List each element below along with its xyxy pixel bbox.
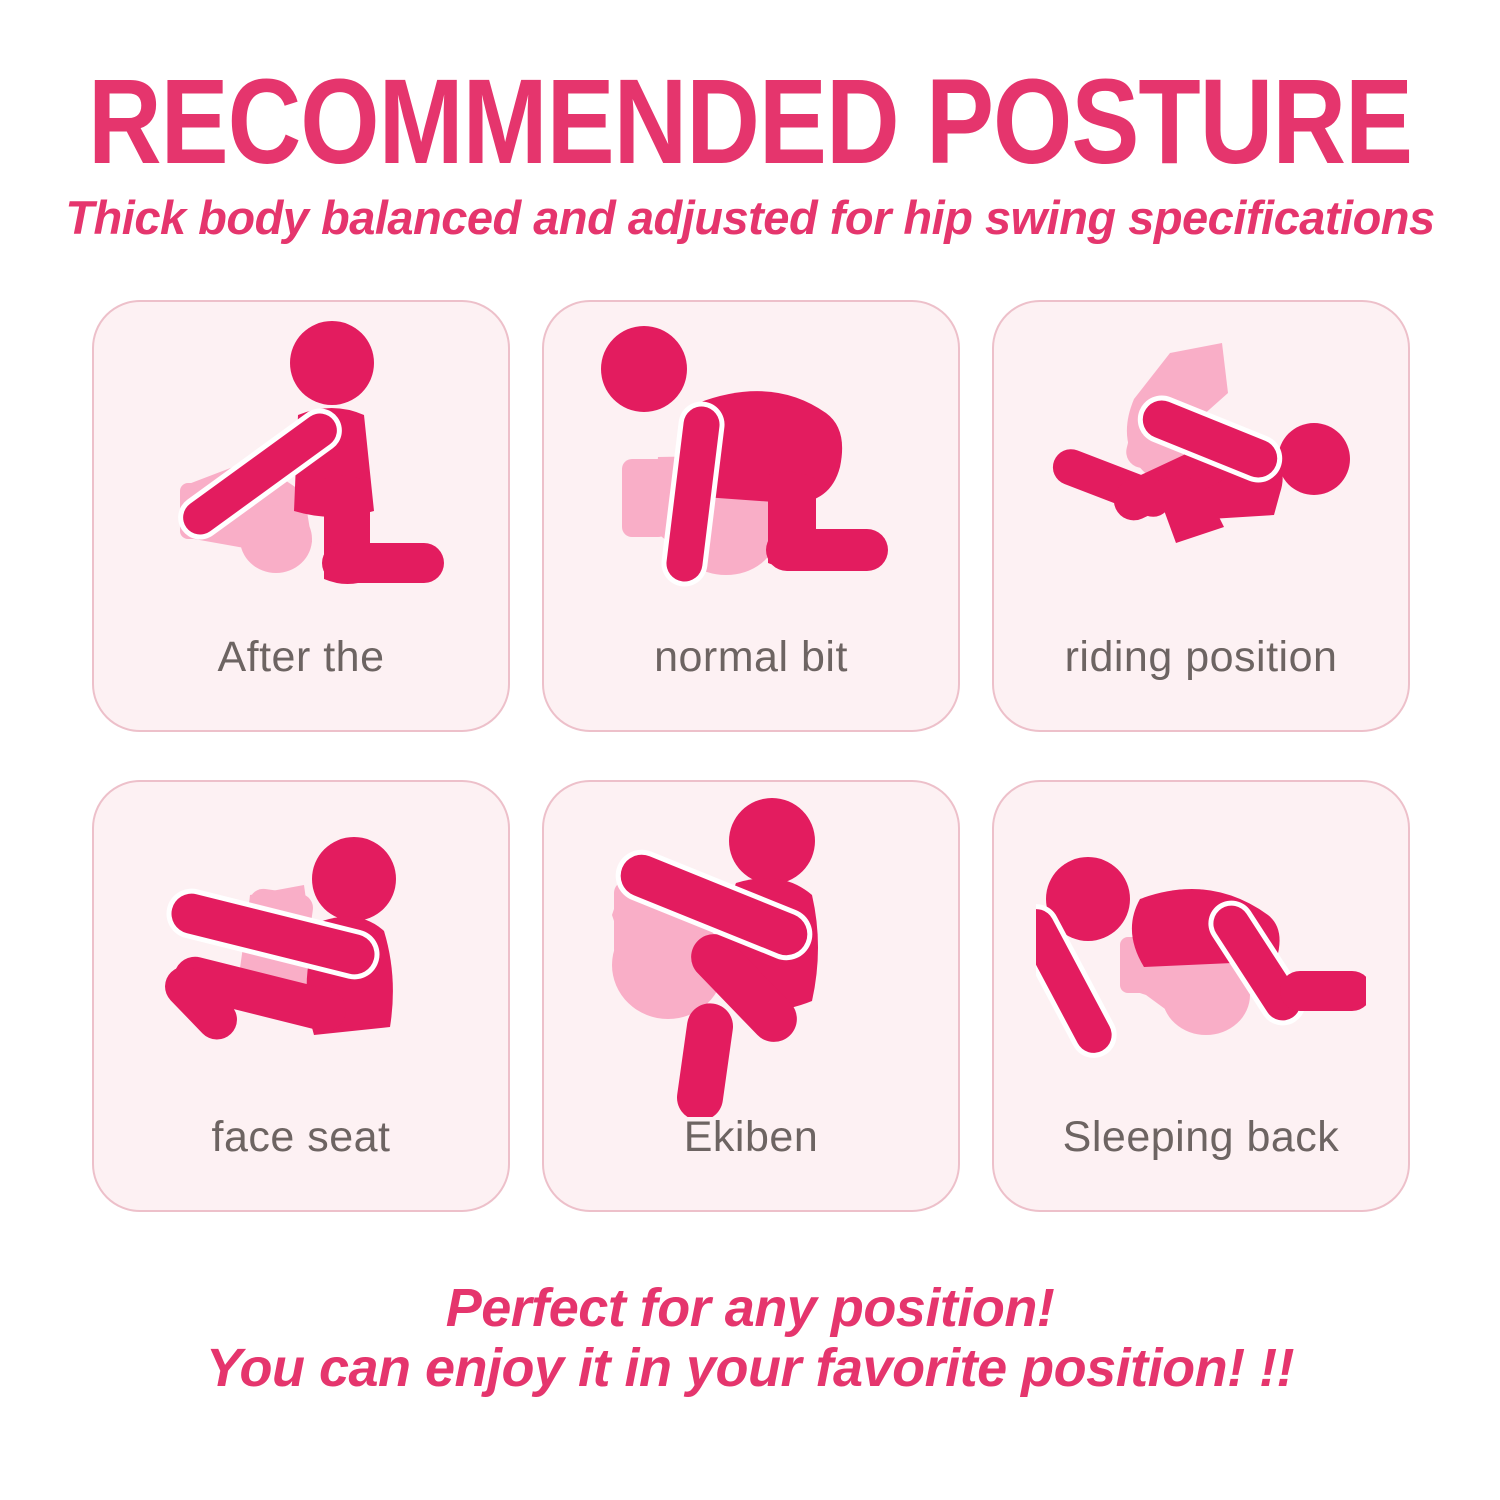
footer-line-1: Perfect for any position!	[0, 1278, 1500, 1338]
posture-card-label: After the	[217, 636, 384, 679]
header: RECOMMENDED POSTURE Thick body balanced …	[0, 0, 1500, 241]
posture-card-sleeping-back[interactable]: Sleeping back	[992, 780, 1410, 1212]
posture-card-after-the[interactable]: After the	[92, 300, 510, 732]
footer: Perfect for any position! You can enjoy …	[0, 1278, 1500, 1399]
posture-grid: After the	[92, 300, 1412, 1212]
posture-card-label: face seat	[212, 1116, 391, 1159]
posture-riding-position-icon	[994, 302, 1408, 642]
posture-card-label: riding position	[1065, 636, 1338, 679]
page-title: RECOMMENDED POSTURE	[0, 0, 1500, 182]
posture-normal-bit-icon	[544, 302, 958, 642]
posture-card-label: normal bit	[654, 636, 848, 679]
posture-after-the-icon	[94, 302, 508, 642]
posture-card-label: Ekiben	[684, 1116, 818, 1159]
posture-card-riding-position[interactable]: riding position	[992, 300, 1410, 732]
posture-ekiben-icon	[544, 782, 958, 1122]
posture-sleeping-back-icon	[994, 782, 1408, 1122]
posture-card-normal-bit[interactable]: normal bit	[542, 300, 960, 732]
posture-card-face-seat[interactable]: face seat	[92, 780, 510, 1212]
footer-line-2: You can enjoy it in your favorite positi…	[0, 1338, 1500, 1398]
posture-face-seat-icon	[94, 782, 508, 1122]
posture-card-ekiben[interactable]: Ekiben	[542, 780, 960, 1212]
posture-card-label: Sleeping back	[1063, 1116, 1340, 1159]
